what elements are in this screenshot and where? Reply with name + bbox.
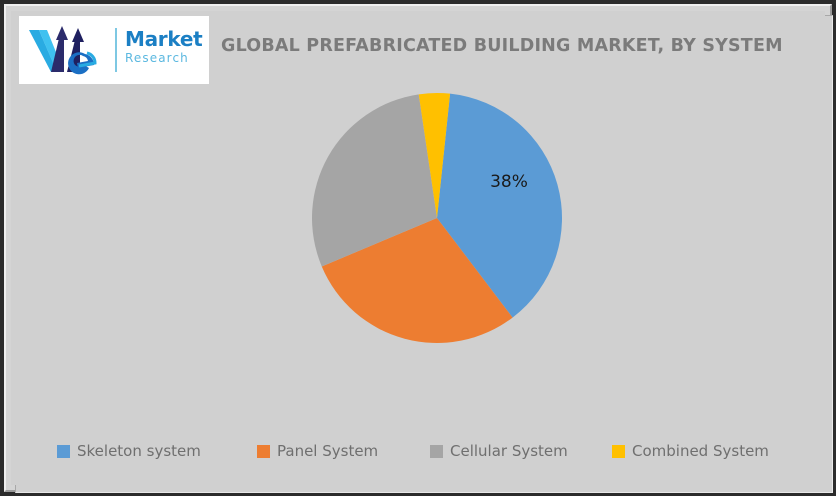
pie-chart: 38% xyxy=(301,91,581,371)
legend-label-skeleton-system: Skeleton system xyxy=(77,442,201,460)
legend-swatch-panel-system xyxy=(257,445,270,458)
figure-frame: Market Research GLOBAL PREFABRICATED BUI… xyxy=(0,0,836,496)
chart-legend: Skeleton system Panel System Cellular Sy… xyxy=(11,429,825,473)
we-logo-icon xyxy=(27,24,111,76)
pie-slice-label-skeleton-system: 38% xyxy=(490,172,528,192)
pie-chart-svg: 38% xyxy=(301,91,581,371)
brand-logo: Market Research xyxy=(19,16,209,84)
legend-label-cellular-system: Cellular System xyxy=(450,442,568,460)
chart-title: GLOBAL PREFABRICATED BUILDING MARKET, BY… xyxy=(221,36,825,56)
legend-item-combined-system[interactable]: Combined System xyxy=(612,440,769,462)
logo-word-market: Market xyxy=(125,28,205,50)
legend-item-skeleton-system[interactable]: Skeleton system xyxy=(57,440,201,462)
logo-divider xyxy=(115,28,117,72)
chart-canvas: Market Research GLOBAL PREFABRICATED BUI… xyxy=(11,11,825,485)
legend-swatch-combined-system xyxy=(612,445,625,458)
legend-label-panel-system: Panel System xyxy=(277,442,378,460)
legend-label-combined-system: Combined System xyxy=(632,442,769,460)
legend-swatch-skeleton-system xyxy=(57,445,70,458)
legend-swatch-cellular-system xyxy=(430,445,443,458)
legend-item-cellular-system[interactable]: Cellular System xyxy=(430,440,568,462)
logo-word-research: Research xyxy=(125,50,205,66)
legend-item-panel-system[interactable]: Panel System xyxy=(257,440,378,462)
logo-wordmark: Market Research xyxy=(125,28,205,74)
pie-slices xyxy=(312,93,562,343)
